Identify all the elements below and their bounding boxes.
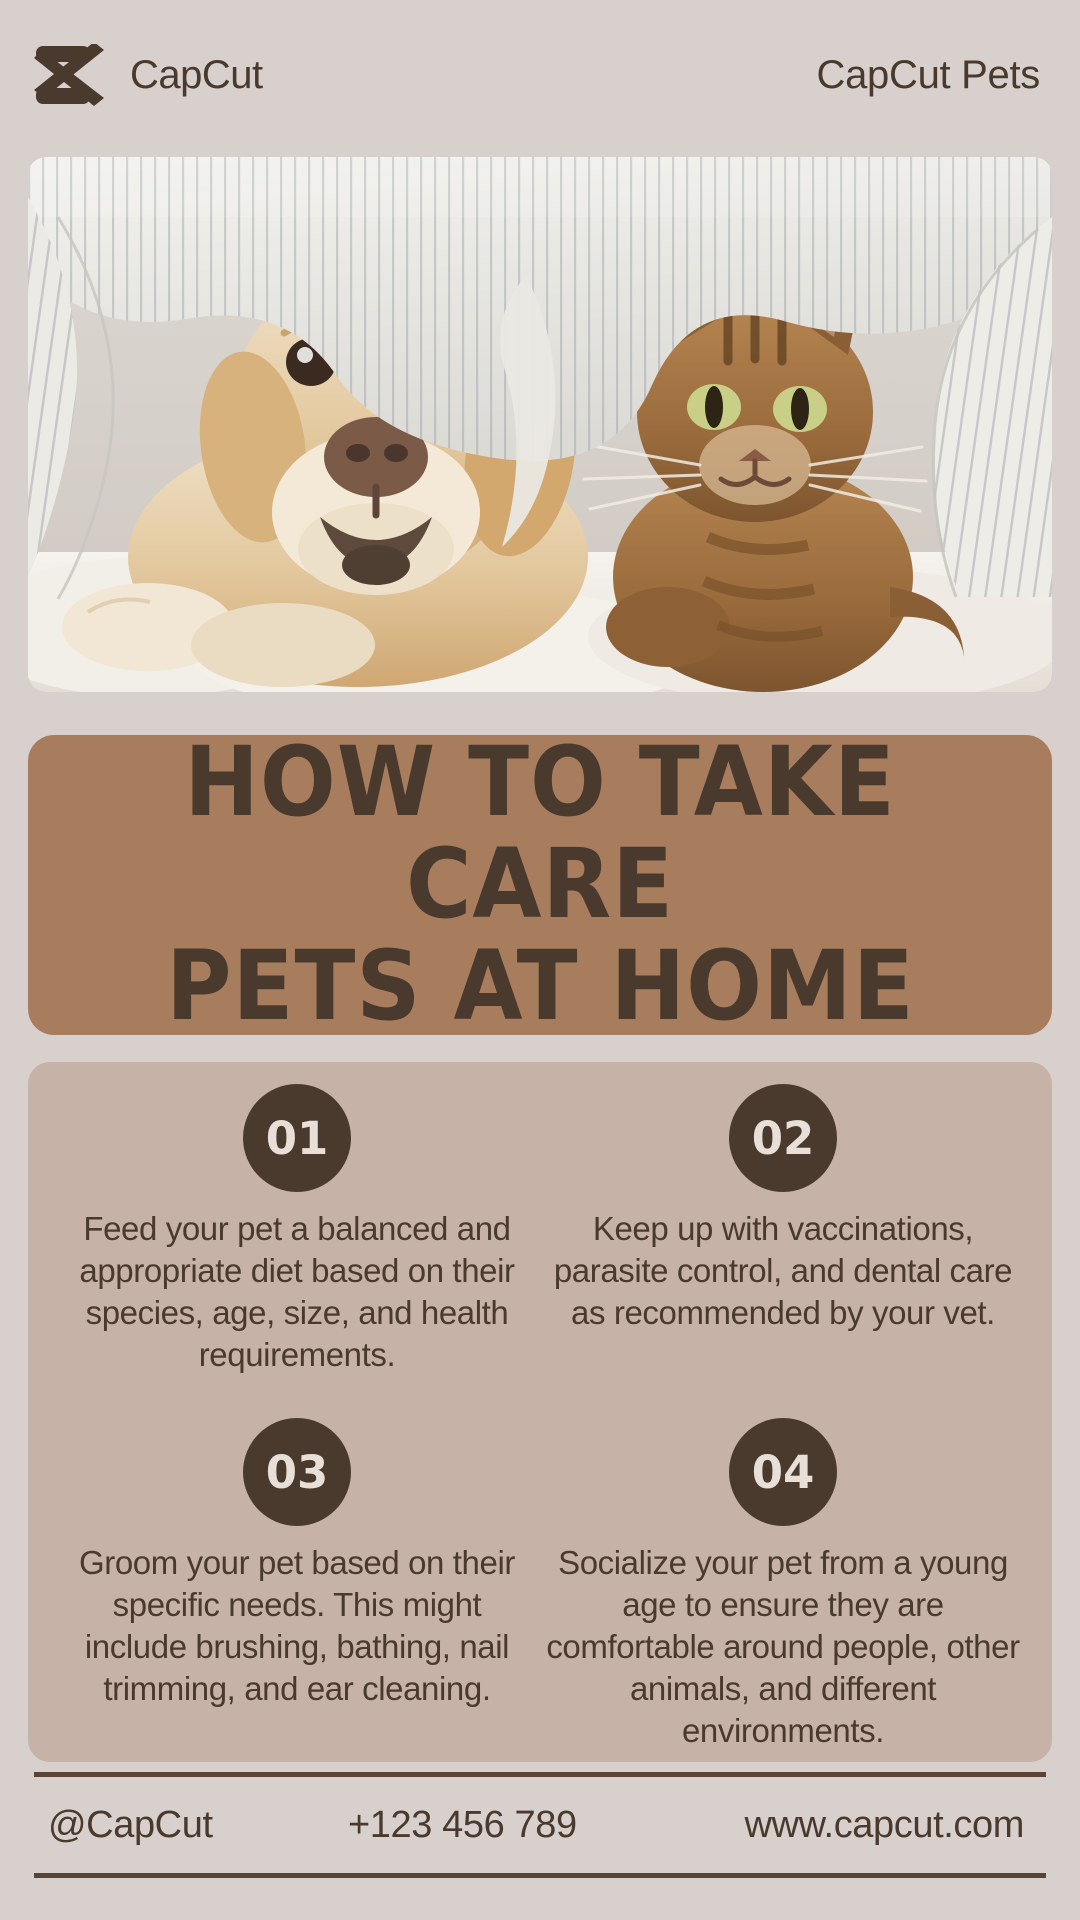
hero-photo (28, 157, 1052, 692)
tips-panel: 01 Feed your pet a balanced and appropri… (28, 1062, 1052, 1762)
header-right-label: CapCut Pets (817, 55, 1040, 95)
page-header: CapCut CapCut Pets (0, 0, 1080, 150)
tip-text: Socialize your pet from a young age to e… (546, 1542, 1020, 1752)
tip-text: Groom your pet based on their specific n… (60, 1542, 534, 1710)
tip-item-02: 02 Keep up with vaccinations, parasite c… (540, 1084, 1026, 1418)
tip-text: Feed your pet a balanced and appropriate… (60, 1208, 534, 1376)
page-footer: @CapCut +123 456 789 www.capcut.com (34, 1772, 1046, 1878)
tip-item-04: 04 Socialize your pet from a young age t… (540, 1418, 1026, 1752)
tip-number-badge: 02 (729, 1084, 837, 1192)
tip-number-badge: 01 (243, 1084, 351, 1192)
tip-number-badge: 04 (729, 1418, 837, 1526)
footer-social-handle[interactable]: @CapCut (48, 1806, 348, 1844)
brand: CapCut (32, 44, 263, 106)
footer-contact-row: @CapCut +123 456 789 www.capcut.com (34, 1777, 1046, 1873)
brand-name: CapCut (130, 55, 263, 95)
title-line-2: PETS AT HOME (166, 936, 914, 1038)
tip-number-badge: 03 (243, 1418, 351, 1526)
footer-phone-number[interactable]: +123 456 789 (348, 1806, 678, 1844)
title-banner: HOW TO TAKE CARE PETS AT HOME (28, 735, 1052, 1035)
title-line-1: HOW TO TAKE CARE (64, 732, 1016, 936)
tip-text: Keep up with vaccinations, parasite cont… (546, 1208, 1020, 1334)
tip-item-03: 03 Groom your pet based on their specifi… (54, 1418, 540, 1752)
footer-website-url[interactable]: www.capcut.com (678, 1806, 1032, 1844)
tips-grid: 01 Feed your pet a balanced and appropri… (54, 1084, 1026, 1752)
capcut-logo-icon (32, 44, 114, 106)
tip-item-01: 01 Feed your pet a balanced and appropri… (54, 1084, 540, 1418)
infographic-page: CapCut CapCut Pets (0, 0, 1080, 1920)
footer-rule-bottom (34, 1873, 1046, 1878)
